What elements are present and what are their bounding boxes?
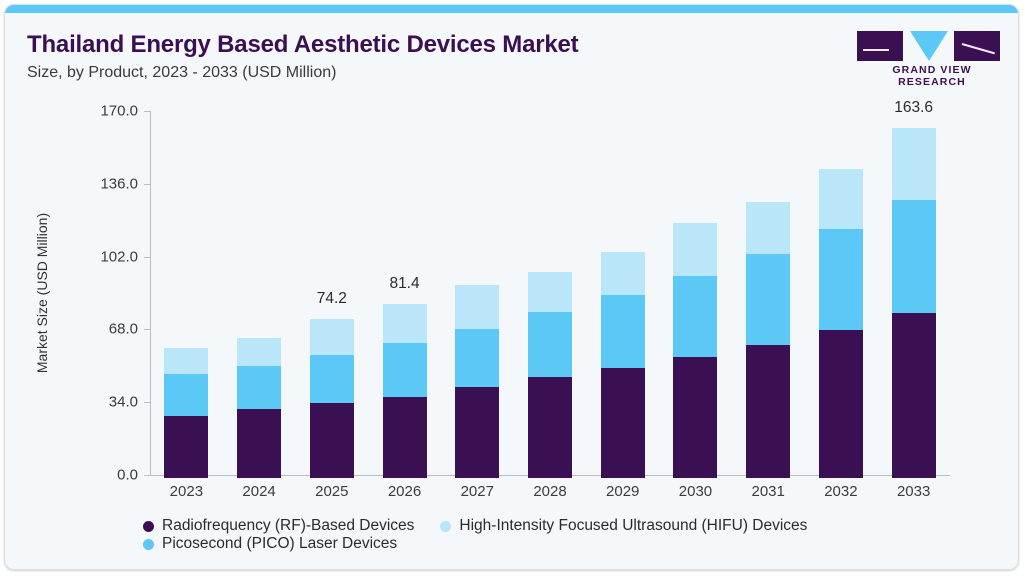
legend-color-dot <box>143 521 154 532</box>
y-axis-tick-label: 34.0 <box>109 394 138 411</box>
bar-segment-rf <box>601 368 645 478</box>
bar-segment-pico <box>746 254 790 345</box>
chart-card: Thailand Energy Based Aesthetic Devices … <box>4 4 1019 570</box>
bar-segment-rf <box>237 409 281 478</box>
y-axis-line <box>150 111 151 475</box>
bar-segment-hifu <box>746 202 790 254</box>
accent-top-bar <box>5 5 1018 13</box>
chart-plot-area: Market Size (USD Million) 0.034.068.0102… <box>150 111 950 479</box>
bar-segment-hifu <box>164 348 208 374</box>
bar-segment-rf <box>164 416 208 478</box>
bar-2027[interactable] <box>455 285 499 478</box>
bar-segment-hifu <box>601 252 645 295</box>
legend-item[interactable]: High-Intensity Focused Ultrasound (HIFU)… <box>440 517 807 535</box>
bar-segment-rf <box>383 397 427 478</box>
x-axis-tick-label: 2025 <box>315 483 348 500</box>
bar-2032[interactable] <box>819 169 863 478</box>
x-axis-tick-label: 2024 <box>242 483 275 500</box>
rect-slash-icon <box>857 31 903 61</box>
y-axis-title: Market Size (USD Million) <box>34 213 50 373</box>
chart-legend: Radiofrequency (RF)-Based DevicesHigh-In… <box>143 517 943 553</box>
bar-2026[interactable] <box>383 304 427 478</box>
bar-segment-hifu <box>383 304 427 343</box>
y-axis-tick <box>144 329 150 330</box>
bar-2030[interactable] <box>673 223 717 478</box>
bar-segment-hifu <box>455 285 499 329</box>
x-axis-tick-label: 2028 <box>533 483 566 500</box>
bar-segment-pico <box>455 329 499 387</box>
bar-segment-rf <box>673 357 717 478</box>
rect-slash-icon <box>954 31 1000 61</box>
bar-segment-pico <box>673 276 717 357</box>
bar-2031[interactable] <box>746 202 790 478</box>
legend-item[interactable]: Picosecond (PICO) Laser Devices <box>143 535 397 553</box>
legend-label: Picosecond (PICO) Laser Devices <box>162 535 397 553</box>
legend-row: Radiofrequency (RF)-Based DevicesHigh-In… <box>143 517 943 535</box>
bar-segment-pico <box>310 355 354 403</box>
legend-label: Radiofrequency (RF)-Based Devices <box>162 517 414 535</box>
page-title: Thailand Energy Based Aesthetic Devices … <box>27 31 578 59</box>
bar-segment-pico <box>601 295 645 368</box>
bar-segment-pico <box>237 366 281 410</box>
x-axis-tick-label: 2026 <box>388 483 421 500</box>
page-subtitle: Size, by Product, 2023 - 2033 (USD Milli… <box>27 64 336 82</box>
bar-segment-rf <box>528 377 572 478</box>
bar-2023[interactable] <box>164 348 208 478</box>
y-axis-tick <box>144 475 150 476</box>
brand-logo: GRAND VIEW RESEARCH <box>857 31 1007 83</box>
x-axis-tick-label: 2032 <box>824 483 857 500</box>
y-axis-tick <box>144 257 150 258</box>
triangle-down-icon <box>910 31 948 61</box>
y-axis-tick-label: 136.0 <box>100 175 138 192</box>
y-axis-tick <box>144 184 150 185</box>
legend-label: High-Intensity Focused Ultrasound (HIFU)… <box>459 517 807 535</box>
x-axis-tick-label: 2023 <box>170 483 203 500</box>
bar-segment-rf <box>892 313 936 478</box>
y-axis-tick <box>144 402 150 403</box>
bar-2024[interactable] <box>237 338 281 478</box>
y-axis-tick-label: 68.0 <box>109 321 138 338</box>
bar-2029[interactable] <box>601 252 645 478</box>
logo-marks <box>857 31 1007 61</box>
x-axis-tick-label: 2033 <box>897 483 930 500</box>
bar-segment-hifu <box>528 272 572 312</box>
bar-segment-hifu <box>237 338 281 366</box>
bar-segment-hifu <box>819 169 863 229</box>
x-axis-tick-label: 2031 <box>751 483 784 500</box>
bar-segment-rf <box>819 330 863 478</box>
y-axis-tick-label: 170.0 <box>100 103 138 120</box>
bar-value-label: 81.4 <box>389 275 419 293</box>
y-axis-tick-label: 0.0 <box>117 467 138 484</box>
bar-2025[interactable] <box>310 319 354 478</box>
logo-text: GRAND VIEW RESEARCH <box>857 64 1007 88</box>
y-axis-tick <box>144 111 150 112</box>
bar-2033[interactable] <box>892 128 936 478</box>
bar-segment-pico <box>892 200 936 313</box>
bar-segment-pico <box>164 374 208 416</box>
bar-segment-pico <box>383 343 427 397</box>
x-axis-tick-label: 2030 <box>679 483 712 500</box>
bar-value-label: 74.2 <box>317 290 347 308</box>
bar-segment-hifu <box>673 223 717 275</box>
bar-segment-rf <box>746 345 790 478</box>
bar-value-label: 163.6 <box>894 99 933 117</box>
legend-color-dot <box>143 539 154 550</box>
bar-segment-hifu <box>310 319 354 355</box>
x-axis-tick-label: 2029 <box>606 483 639 500</box>
bar-segment-rf <box>310 403 354 478</box>
legend-item[interactable]: Radiofrequency (RF)-Based Devices <box>143 517 414 535</box>
legend-row: Picosecond (PICO) Laser Devices <box>143 535 943 553</box>
bar-segment-pico <box>819 229 863 331</box>
bar-segment-hifu <box>892 128 936 200</box>
bar-segment-rf <box>455 387 499 478</box>
legend-color-dot <box>440 521 451 532</box>
x-axis-tick-label: 2027 <box>461 483 494 500</box>
bar-segment-pico <box>528 312 572 377</box>
y-axis-tick-label: 102.0 <box>100 248 138 265</box>
bar-2028[interactable] <box>528 272 572 478</box>
